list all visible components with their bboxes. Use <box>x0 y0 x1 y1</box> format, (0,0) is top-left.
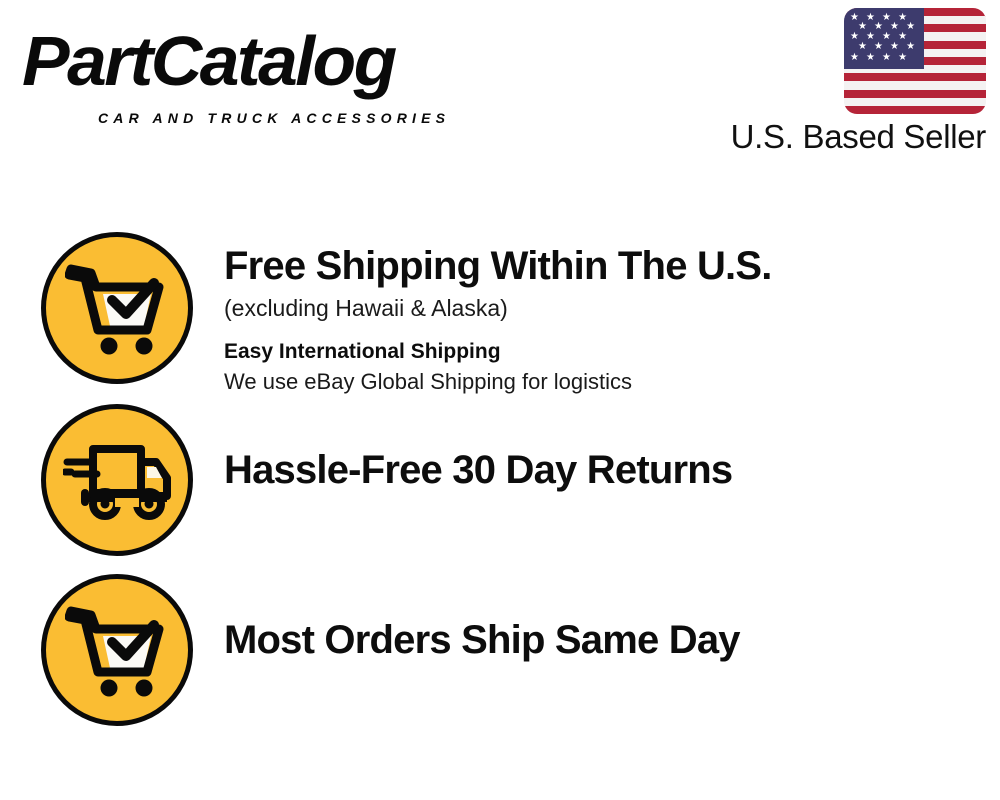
feature-secondary-note: We use eBay Global Shipping for logistic… <box>224 367 1000 397</box>
feature-text-block: Hassle-Free 30 Day Returns <box>193 404 1000 494</box>
feature-secondary-heading: Easy International Shipping <box>224 337 1000 367</box>
flag-star: ★ <box>898 53 907 63</box>
partcatalog-logo[interactable]: PartCatalog CAR AND TRUCK ACCESSORIES <box>22 24 492 114</box>
us-flag-icon: ★ ★ ★ ★ ★ ★ ★ ★ ★ ★ ★ ★ ★ ★ ★ ★ ★ ★ ★ ★ <box>844 8 986 114</box>
flag-star: ★ <box>906 42 915 52</box>
feature-heading: Most Orders Ship Same Day <box>224 616 1000 664</box>
flag-star: ★ <box>882 53 891 63</box>
us-based-seller-badge: ★ ★ ★ ★ ★ ★ ★ ★ ★ ★ ★ ★ ★ ★ ★ ★ ★ ★ ★ ★ <box>696 8 986 156</box>
flag-canton: ★ ★ ★ ★ ★ ★ ★ ★ ★ ★ ★ ★ ★ ★ ★ ★ ★ ★ ★ ★ <box>844 8 924 69</box>
flag-star: ★ <box>866 53 875 63</box>
shopping-cart-check-icon <box>41 574 193 726</box>
feature-text-block: Free Shipping Within The U.S. (excluding… <box>193 232 1000 397</box>
flag-star: ★ <box>906 22 915 32</box>
feature-row: Most Orders Ship Same Day <box>0 574 1000 726</box>
feature-heading: Free Shipping Within The U.S. <box>224 242 1000 290</box>
brand-wordmark: PartCatalog <box>22 24 395 98</box>
flag-star: ★ <box>850 53 859 63</box>
brand-tagline: CAR AND TRUCK ACCESSORIES <box>98 110 450 126</box>
feature-text-block: Most Orders Ship Same Day <box>193 574 1000 664</box>
us-based-seller-label: U.S. Based Seller <box>696 118 986 156</box>
feature-heading: Hassle-Free 30 Day Returns <box>224 446 1000 494</box>
promo-banner: PartCatalog CAR AND TRUCK ACCESSORIES ★ … <box>0 0 1000 800</box>
feature-row: Hassle-Free 30 Day Returns <box>0 404 1000 556</box>
delivery-truck-icon <box>41 404 193 556</box>
shopping-cart-check-icon <box>41 232 193 384</box>
feature-row: Free Shipping Within The U.S. (excluding… <box>0 232 1000 397</box>
feature-subtitle: (excluding Hawaii & Alaska) <box>224 292 1000 324</box>
flag-stripe <box>844 106 986 114</box>
